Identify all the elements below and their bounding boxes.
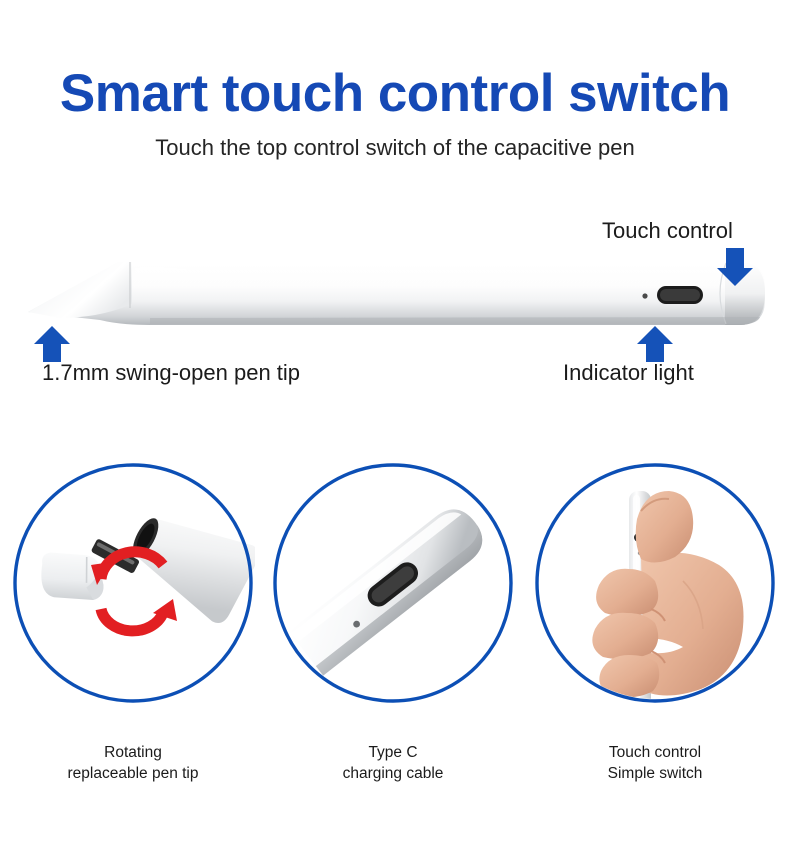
page-subtitle: Touch the top control switch of the capa… bbox=[0, 135, 790, 161]
feature-caption-type-c-charging: Type C charging cable bbox=[266, 743, 520, 784]
pen-underside-shadow bbox=[150, 317, 760, 324]
callout-label-pen-tip: 1.7mm swing-open pen tip bbox=[42, 360, 300, 385]
usb-c-port-inner bbox=[660, 289, 700, 301]
feature-caption-touch-control: Touch control Simple switch bbox=[528, 743, 782, 784]
rotation-arrow-red-bottom bbox=[101, 599, 177, 631]
pen-tip-cone bbox=[28, 262, 132, 318]
arrow-up-icon-indicator bbox=[637, 326, 673, 362]
usb-c-port-closeup-illustration bbox=[271, 461, 515, 705]
callout-label-touch-control: Touch control bbox=[602, 218, 733, 243]
indicator-led-dot bbox=[642, 293, 647, 298]
page-title: Smart touch control switch bbox=[0, 66, 790, 122]
feature-caption-rotating-pen-tip: Rotating replaceable pen tip bbox=[6, 743, 260, 784]
middle-finger bbox=[592, 613, 658, 659]
feature-card-type-c-charging: Type C charging cable bbox=[266, 455, 520, 795]
pen-upper-barrel bbox=[118, 495, 255, 626]
callout-label-indicator-light: Indicator light bbox=[563, 360, 694, 385]
arrow-up-icon-pen-tip bbox=[34, 326, 70, 362]
hand-holding-pen-illustration bbox=[533, 461, 777, 705]
pen-diagram: Touch control 1.7mm swing-open pen tip I… bbox=[0, 200, 790, 400]
feature-card-touch-control: Touch control Simple switch bbox=[528, 455, 782, 795]
pen-tip-rotate-illustration bbox=[11, 461, 255, 705]
index-finger bbox=[596, 569, 658, 617]
feature-gallery: Rotating replaceable pen tip bbox=[0, 455, 790, 795]
feature-card-rotating-pen-tip: Rotating replaceable pen tip bbox=[6, 455, 260, 795]
